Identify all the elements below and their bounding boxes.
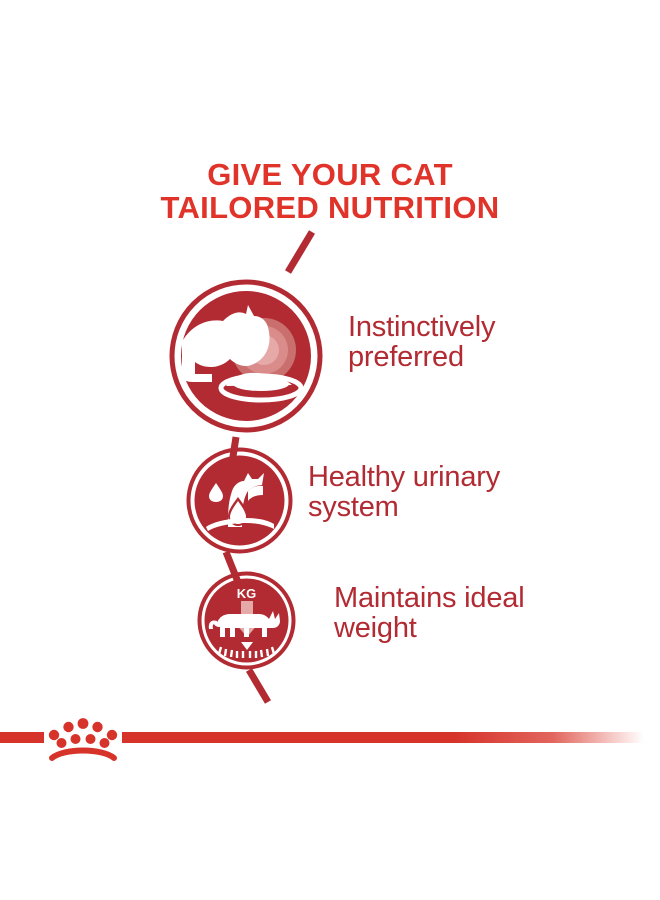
poster-canvas: GIVE YOUR CAT TAILORED NUTRITION	[0, 0, 660, 900]
benefit-label: Healthy urinary system	[308, 462, 608, 522]
footer-bar-right	[122, 732, 660, 743]
page-title: GIVE YOUR CAT TAILORED NUTRITION	[0, 158, 660, 225]
royal-canin-crown-icon	[44, 714, 122, 764]
footer-brand-bar	[0, 700, 660, 780]
cat-eating-bowl-icon	[168, 278, 324, 434]
benefit-label: Maintains ideal weight	[334, 583, 634, 643]
cat-weight-scale-icon: KG	[197, 571, 296, 670]
kg-label: KG	[237, 586, 257, 601]
cat-urinary-droplet-icon	[186, 447, 293, 554]
benefit-label: Instinctively preferred	[348, 312, 628, 372]
footer-bar-left	[0, 732, 44, 743]
